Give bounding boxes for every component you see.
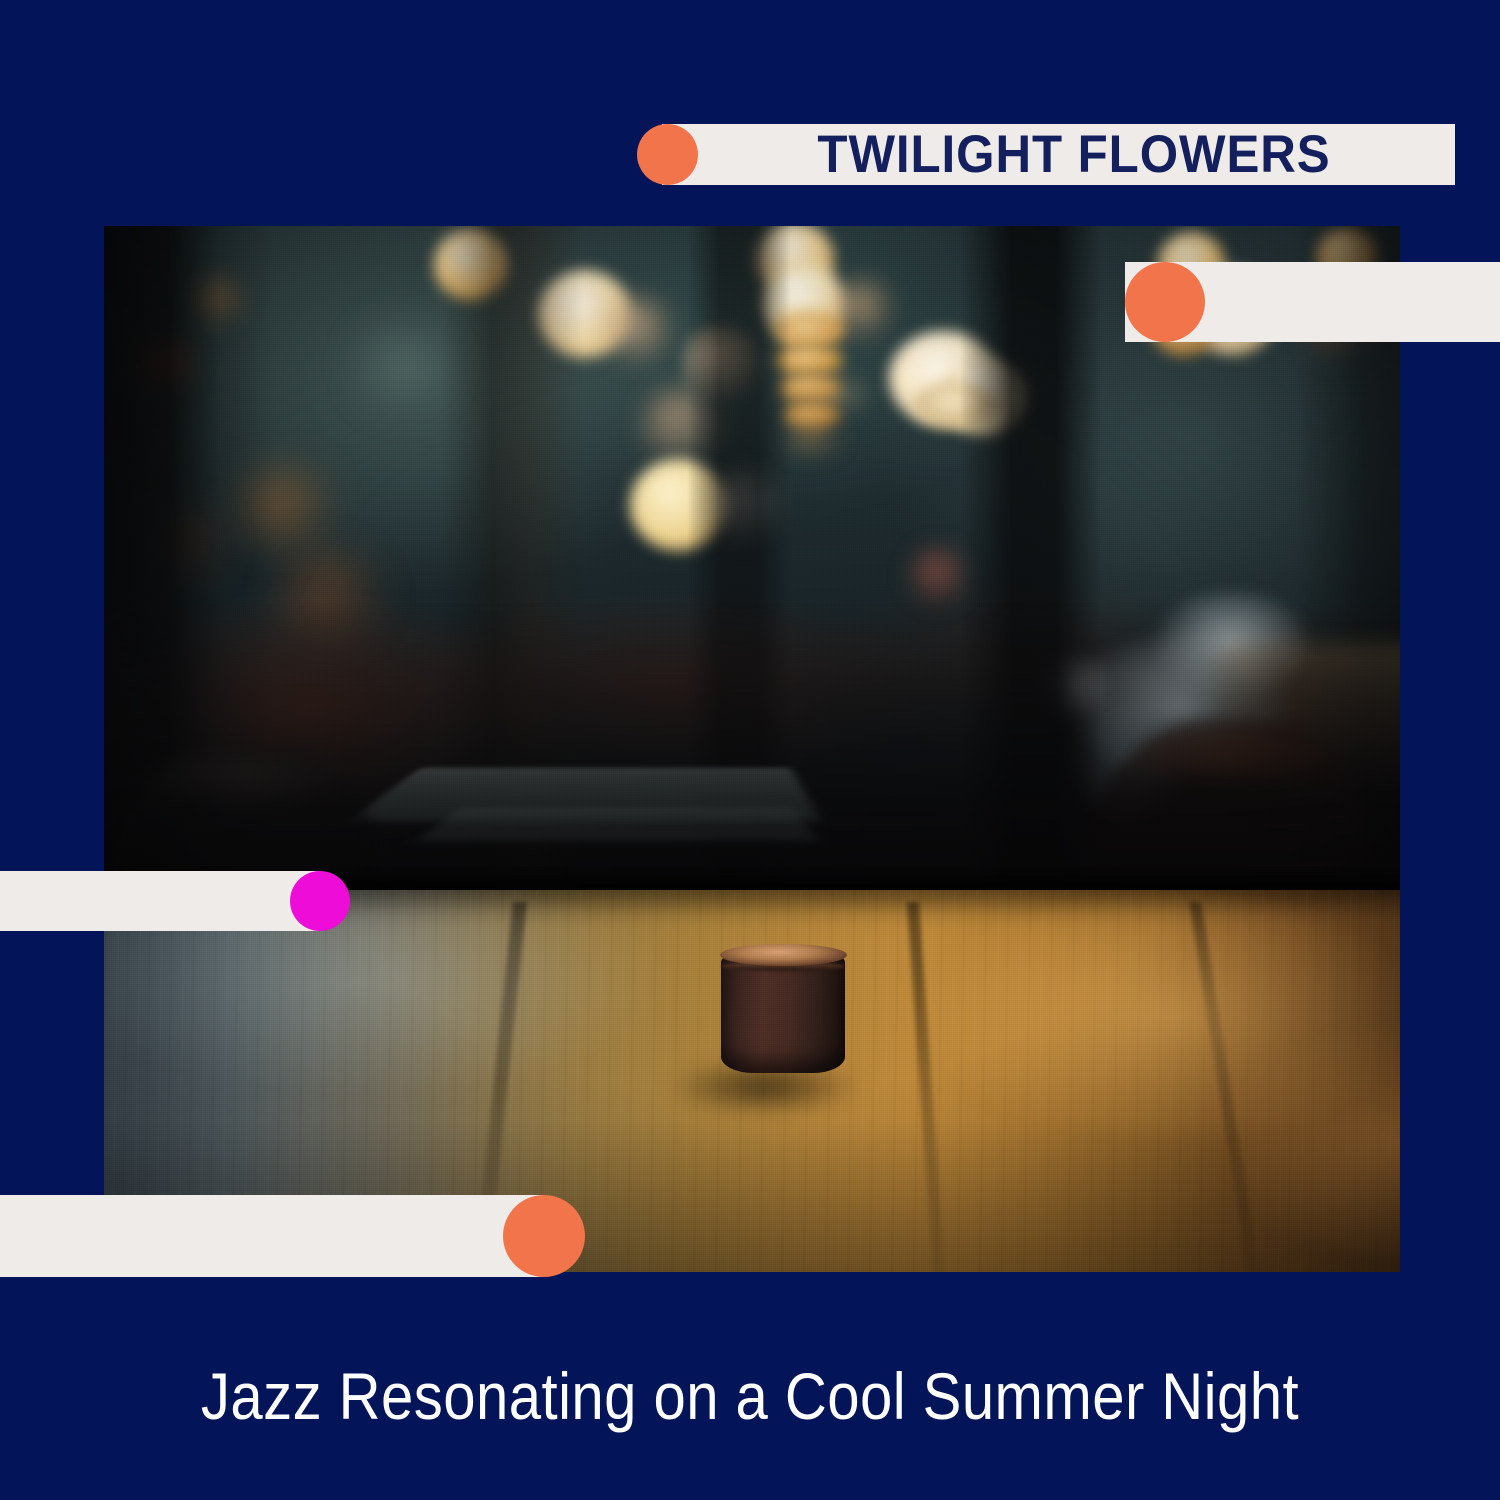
decorative-bar-bottom-left	[0, 1195, 545, 1277]
photo-film-grain	[104, 226, 1400, 1272]
decorative-dot-right-orange	[1125, 262, 1205, 342]
album-title: Jazz Resonating on a Cool Summer Night	[90, 1348, 1410, 1444]
decorative-dot-bottom-orange	[503, 1195, 585, 1277]
album-cover: TWILIGHT FLOWERS Jazz Resonating on a Co…	[0, 0, 1500, 1500]
cover-photo	[104, 226, 1400, 1272]
decorative-bar-left	[0, 871, 320, 931]
decorative-dot-top-orange	[637, 124, 698, 185]
artist-name: TWILIGHT FLOWERS	[739, 124, 1409, 185]
decorative-dot-left-magenta	[290, 871, 350, 931]
